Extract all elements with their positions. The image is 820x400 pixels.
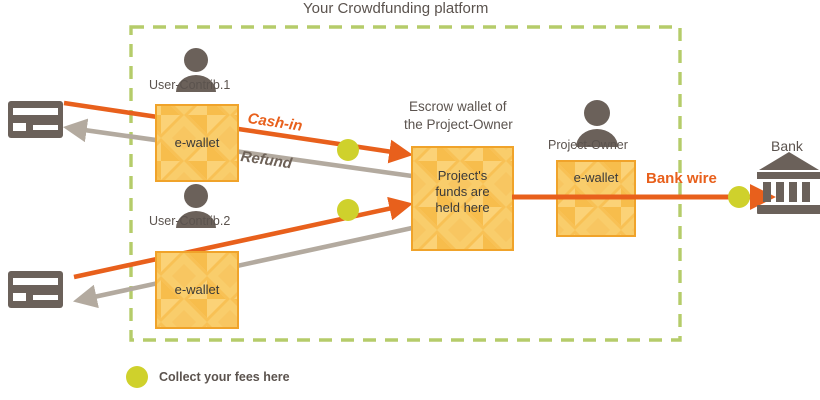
credit-card-icon-1: [8, 101, 63, 138]
wallet-label-project-owner: e-wallet: [557, 170, 635, 185]
wallet-label-user-2: e-wallet: [156, 282, 238, 297]
bank-icon: [757, 152, 820, 214]
escrow-body-line3: held here: [412, 200, 513, 215]
fee-dot-2: [337, 199, 359, 221]
user-contrib-2-label: User-Contrib.2: [149, 214, 230, 228]
diagram-canvas: Your Crowdfunding platform User-Contrib.…: [0, 0, 820, 400]
escrow-body-line1: Project's: [412, 168, 513, 183]
page-title: Your Crowdfunding platform: [303, 0, 488, 17]
fee-dot-3: [728, 186, 750, 208]
diagram-graphics: [0, 0, 820, 400]
wallet-label-user-1: e-wallet: [156, 135, 238, 150]
legend-fee-dot: [126, 366, 148, 388]
escrow-body-line2: funds are: [412, 184, 513, 199]
user-contrib-1-label: User-Contrib.1: [149, 78, 230, 92]
project-owner-label: Project-Owner: [548, 138, 628, 152]
bank-label: Bank: [771, 138, 803, 154]
legend-label: Collect your fees here: [159, 370, 290, 384]
flow-label-bank-wire: Bank wire: [646, 170, 717, 187]
credit-card-icon-2: [8, 271, 63, 308]
fee-dot-1: [337, 139, 359, 161]
escrow-caption-line2: the Project-Owner: [404, 117, 513, 132]
escrow-caption-line1: Escrow wallet of: [409, 99, 507, 114]
